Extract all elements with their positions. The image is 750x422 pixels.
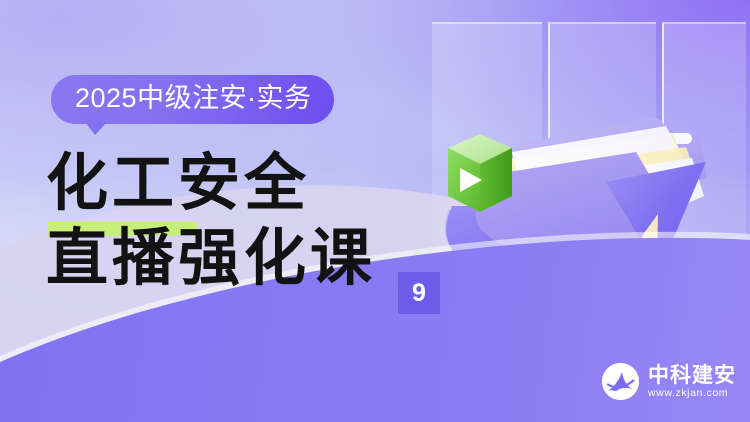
logo-website-url: www.zkjan.com: [648, 388, 736, 399]
play-cube: [448, 134, 512, 212]
zkjan-logo-icon: [602, 363, 639, 400]
course-banner: 9 2025中级注安·实务 化工安全 直播强化课 中科建安 www.zkjan.…: [0, 0, 750, 422]
logo-text-group: 中科建安 www.zkjan.com: [648, 365, 736, 399]
headline-block: 化工安全 直播强化课: [46, 152, 376, 292]
headline-line-2: 直播强化课: [46, 227, 376, 292]
headline-line-2-text: 直播强化课: [46, 225, 376, 293]
episode-number-badge: 9: [398, 272, 440, 314]
speech-bubble-tail: [85, 122, 107, 135]
headline-line-1: 化工安全: [46, 152, 376, 217]
logo-company-name: 中科建安: [648, 365, 736, 386]
course-tag-label: 2025中级注安·实务: [75, 83, 312, 113]
brand-logo[interactable]: 中科建安 www.zkjan.com: [602, 363, 736, 400]
course-tag-pill: 2025中级注安·实务: [51, 75, 334, 124]
headline-line-1-text: 化工安全: [46, 150, 310, 218]
